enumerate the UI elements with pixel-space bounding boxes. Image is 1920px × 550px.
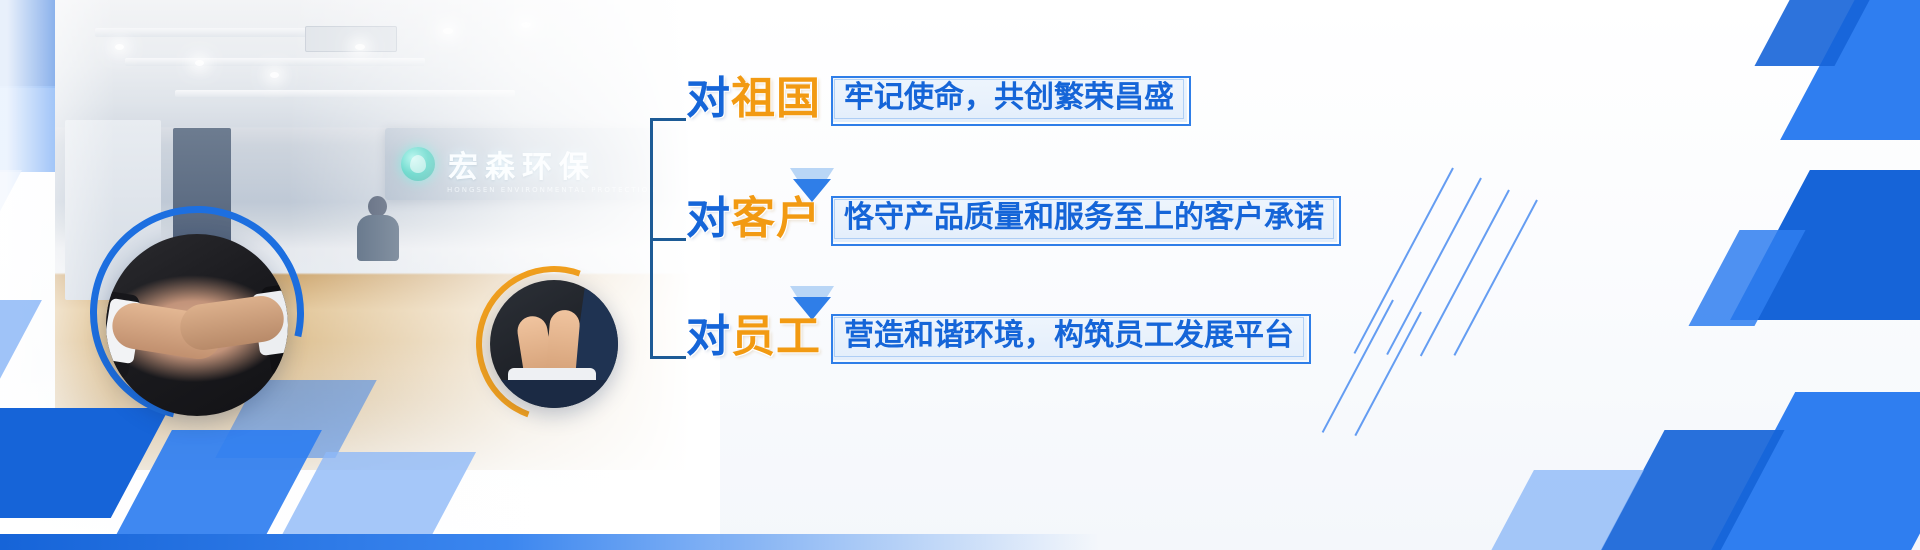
statement-prefix: 对 <box>686 73 731 124</box>
bracket-tick-2 <box>650 238 686 241</box>
bracket-tick-3 <box>650 356 686 359</box>
statement-phrase-employee: 营造和谐环境，构筑员工发展平台 <box>831 314 1307 360</box>
statement-prefix: 对 <box>686 193 731 244</box>
statement-row-employee: 对员工 营造和谐环境，构筑员工发展平台 <box>686 314 1307 360</box>
statement-phrase-customer: 恪守产品质量和服务至上的客户承诺 <box>831 196 1337 242</box>
statement-lead-customer: 对客户 <box>686 197 821 241</box>
corporate-values-banner: 宏森环保 HONGSEN ENVIRONMENTAL PROTECTION <box>0 0 1920 550</box>
statement-row-country: 对祖国 牢记使命，共创繁荣昌盛 <box>686 76 1187 122</box>
statement-target: 员工 <box>731 311 821 362</box>
statement-row-customer: 对客户 恪守产品质量和服务至上的客户承诺 <box>686 196 1337 242</box>
decor-hairline <box>1453 200 1537 356</box>
applause-circle-photo <box>490 280 618 408</box>
statement-lead-employee: 对员工 <box>686 315 821 359</box>
statement-phrase-country: 牢记使命，共创繁荣昌盛 <box>831 76 1187 122</box>
values-content: 对祖国 牢记使命，共创繁荣昌盛 对客户 恪守产品质量和服务至上的客户承诺 对员工… <box>650 70 1350 400</box>
statement-target: 客户 <box>731 193 821 244</box>
statement-prefix: 对 <box>686 311 731 362</box>
decor-hairline <box>1354 168 1454 354</box>
statement-lead-country: 对祖国 <box>686 77 821 121</box>
decor-bottom-strip <box>0 534 1100 550</box>
bracket-tick-1 <box>650 118 686 121</box>
statement-target: 祖国 <box>731 73 821 124</box>
handshake-circle-photo <box>106 234 288 416</box>
